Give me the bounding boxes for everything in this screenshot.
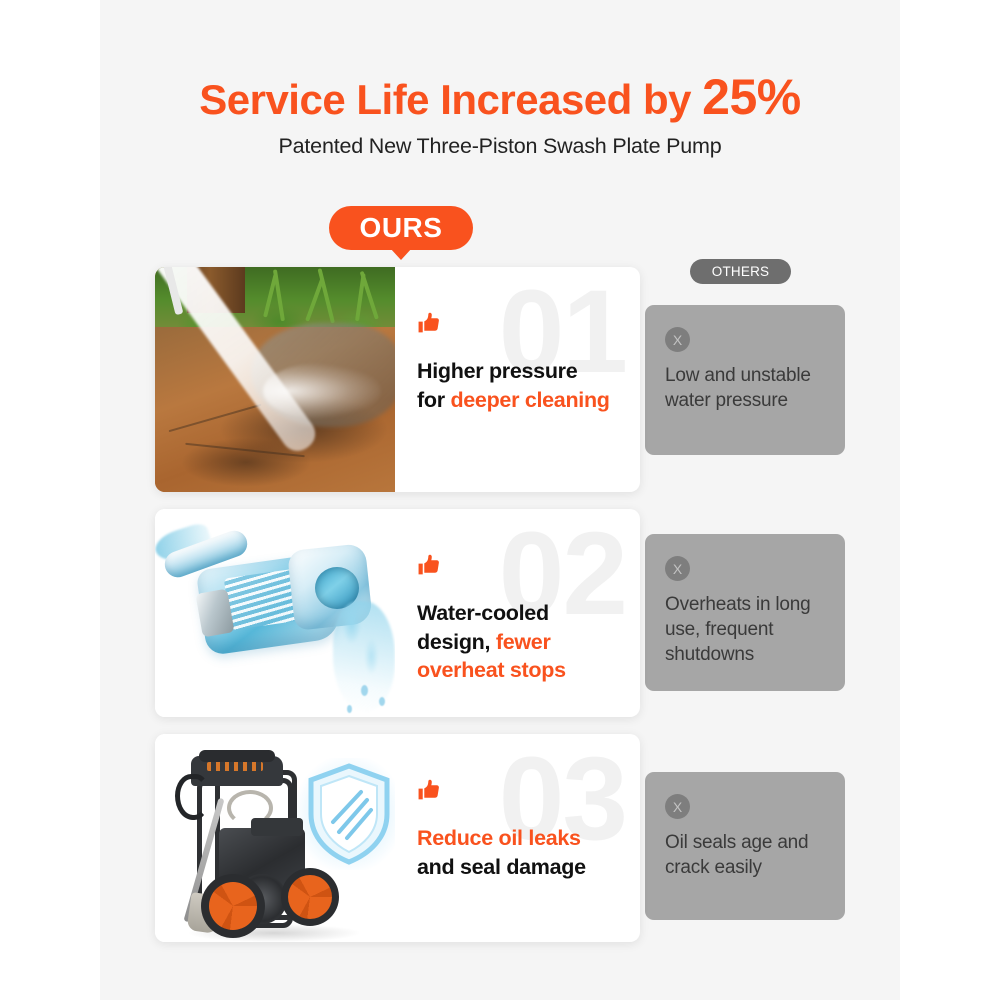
others-text-3: Oil seals age and crack easily (665, 830, 827, 880)
control-panel (207, 762, 263, 771)
others-line-1: Overheats in long (665, 594, 811, 615)
pressure-washer-with-shield (155, 734, 395, 942)
others-text-1: Low and unstable water pressure (665, 363, 827, 413)
thumbs-up-icon (417, 311, 640, 341)
title-main-text: Service Life Increased by (199, 76, 702, 123)
others-text-2: Overheats in long use, frequent shutdown… (665, 592, 827, 667)
others-line-1: Low and unstable (665, 365, 811, 386)
high-pressure-hose (175, 774, 209, 820)
ours-line-2-plain: and seal damage (417, 855, 586, 879)
washer-wheel-front (201, 874, 265, 938)
ours-badge-pointer (390, 248, 412, 260)
cross-icon: X (665, 794, 690, 819)
others-panel-2: X Overheats in long use, frequent shutdo… (645, 534, 845, 691)
cross-icon-glyph: X (673, 799, 682, 815)
ours-line-2-plain: design, (417, 630, 496, 654)
ours-line-2-highlight: fewer (496, 630, 551, 654)
cross-icon: X (665, 556, 690, 581)
water-droplet (347, 705, 352, 713)
others-line-3: shutdowns (665, 644, 754, 665)
comparison-row-2: X Overheats in long use, frequent shutdo… (100, 509, 900, 717)
content-canvas: Service Life Increased by 25% Patented N… (100, 0, 900, 1000)
ours-line-2-plain: for (417, 388, 450, 412)
infographic-page: Service Life Increased by 25% Patented N… (0, 0, 1000, 1000)
card-image-3 (155, 734, 395, 942)
card-image-2 (155, 509, 395, 717)
card-body-2: 02 Water-cooled design, fewer overheat s… (395, 509, 640, 717)
cross-icon-glyph: X (673, 561, 682, 577)
ours-line-1: Higher pressure (417, 359, 577, 383)
thumbs-up-icon (417, 778, 640, 808)
ours-card-2: 02 Water-cooled design, fewer overheat s… (155, 509, 640, 717)
comparison-row-1: X Low and unstable water pressure (100, 267, 900, 492)
ours-card-3: 03 Reduce oil leaks and seal damage (155, 734, 640, 942)
ours-line-2-highlight: deeper cleaning (450, 388, 609, 412)
thumbs-up-icon (417, 553, 640, 583)
shield-icon (305, 762, 393, 866)
page-title: Service Life Increased by 25% (100, 68, 900, 126)
others-panel-1: X Low and unstable water pressure (645, 305, 845, 455)
ours-badge: OURS (329, 206, 473, 250)
water-droplet (361, 685, 368, 696)
ours-line-3-highlight: overheat stops (417, 658, 566, 682)
others-line-2: crack easily (665, 857, 762, 878)
others-line-1: Oil seals age and (665, 832, 808, 853)
others-panel-3: X Oil seals age and crack easily (645, 772, 845, 920)
ours-card-1: 01 Higher pressure for deeper cleaning (155, 267, 640, 492)
cross-icon: X (665, 327, 690, 352)
others-line-2: water pressure (665, 390, 788, 411)
ours-line-1: Water-cooled (417, 601, 549, 625)
washer-wheel-rear (281, 868, 339, 926)
engine-top-cover (251, 818, 303, 836)
water-droplet (379, 697, 385, 706)
card-image-1 (155, 267, 395, 492)
title-percent-value: 25% (702, 69, 801, 125)
ours-text-2: Water-cooled design, fewer overheat stop… (417, 599, 640, 685)
pressure-washing-patio-photo (155, 267, 395, 492)
card-body-1: 01 Higher pressure for deeper cleaning (395, 267, 640, 492)
cross-icon-glyph: X (673, 332, 682, 348)
card-body-3: 03 Reduce oil leaks and seal damage (395, 734, 640, 942)
water-cooled-pump-cutaway (155, 509, 395, 717)
washer-handle-top (199, 750, 275, 762)
ours-badge-label: OURS (360, 212, 443, 244)
ours-text-3: Reduce oil leaks and seal damage (417, 824, 640, 881)
ours-line-1-highlight: Reduce oil leaks (417, 826, 581, 850)
ours-text-1: Higher pressure for deeper cleaning (417, 357, 640, 414)
others-line-2: use, frequent (665, 619, 773, 640)
page-subtitle: Patented New Three-Piston Swash Plate Pu… (100, 134, 900, 159)
comparison-row-3: X Oil seals age and crack easily (100, 734, 900, 942)
